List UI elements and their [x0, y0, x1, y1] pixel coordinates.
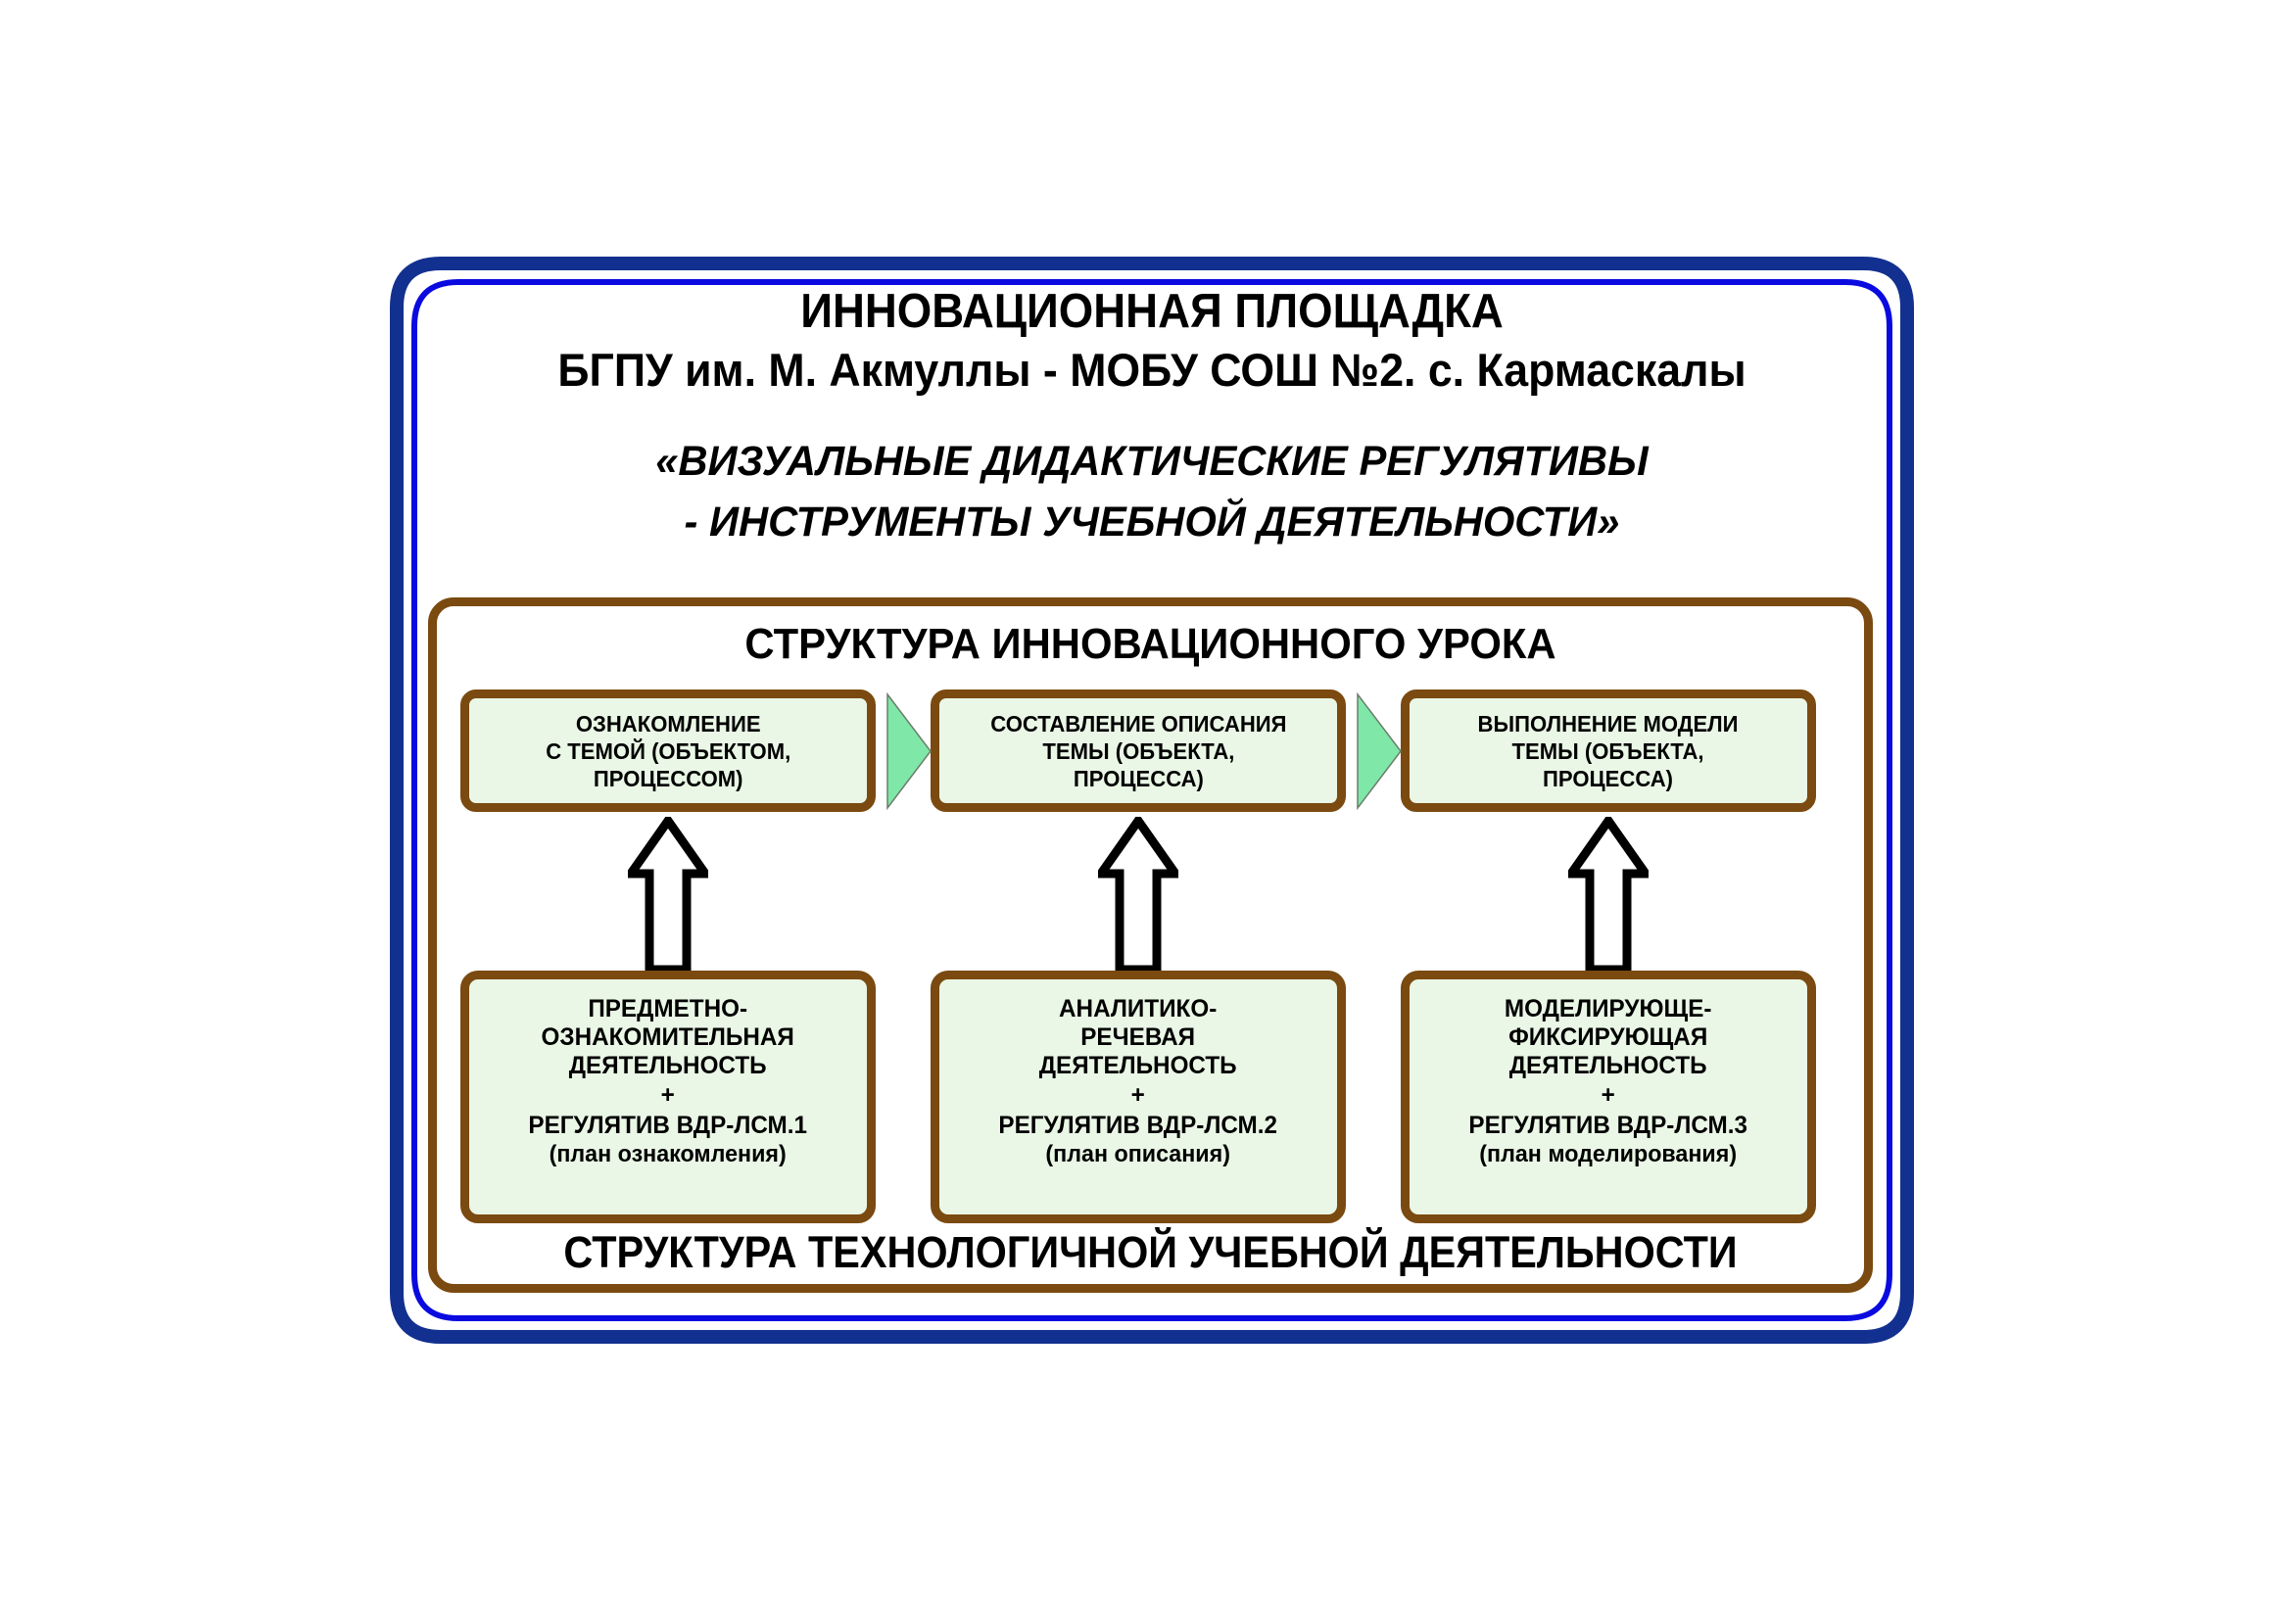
- header-subtitle-line-1: «ВИЗУАЛЬНЫЕ ДИДАКТИЧЕСКИЕ РЕГУЛЯТИВЫ: [451, 431, 1853, 492]
- panel-title: СТРУКТУРА ИННОВАЦИОННОГО УРОКА: [472, 620, 1828, 669]
- poster-frame: ИННОВАЦИОННАЯ ПЛОЩАДКА БГПУ им. М. Акмул…: [390, 257, 1914, 1344]
- stage-box-model-execution[interactable]: ВЫПОЛНЕНИЕ МОДЕЛИ ТЕМЫ (ОБЪЕКТА, ПРОЦЕСС…: [1401, 689, 1816, 812]
- green-chevron-arrow-icon: [1354, 692, 1403, 810]
- activity-plus-sign: +: [1469, 1080, 1748, 1111]
- poster-header: ИННОВАЦИОННАЯ ПЛОЩАДКА БГПУ им. М. Акмул…: [429, 284, 1875, 552]
- panel-footer: СТРУКТУРА ТЕХНОЛОГИЧНОЙ УЧЕБНОЙ ДЕЯТЕЛЬН…: [494, 1227, 1806, 1278]
- stage-box-description[interactable]: СОСТАВЛЕНИЕ ОПИСАНИЯ ТЕМЫ (ОБЪЕКТА, ПРОЦ…: [931, 689, 1346, 812]
- activity-title: ПРЕДМЕТНО- ОЗНАКОМИТЕЛЬНАЯ ДЕЯТЕЛЬНОСТЬ: [529, 995, 808, 1080]
- innovative-lesson-panel: СТРУКТУРА ИННОВАЦИОННОГО УРОКА ОЗНАКОМЛЕ…: [428, 597, 1873, 1293]
- up-arrow-icon: [1098, 817, 1178, 974]
- up-arrow-icon: [628, 817, 708, 974]
- green-chevron-arrow-icon: [884, 692, 933, 810]
- stage-box-label: ВЫПОЛНЕНИЕ МОДЕЛИ ТЕМЫ (ОБЪЕКТА, ПРОЦЕСС…: [1478, 710, 1739, 792]
- activity-plan: (план моделирования): [1469, 1140, 1748, 1169]
- activity-regulative: РЕГУЛЯТИВ ВДР-ЛСМ.2: [999, 1111, 1278, 1140]
- stage-box-label: СОСТАВЛЕНИЕ ОПИСАНИЯ ТЕМЫ (ОБЪЕКТА, ПРОЦ…: [990, 710, 1286, 792]
- activity-title: МОДЕЛИРУЮЩЕ- ФИКСИРУЮЩАЯ ДЕЯТЕЛЬНОСТЬ: [1469, 995, 1748, 1080]
- up-arrow-icon: [1568, 817, 1649, 974]
- activity-box-analytic-speech[interactable]: АНАЛИТИКО- РЕЧЕВАЯ ДЕЯТЕЛЬНОСТЬ + РЕГУЛЯ…: [931, 971, 1346, 1223]
- activity-box-subject-familiarization[interactable]: ПРЕДМЕТНО- ОЗНАКОМИТЕЛЬНАЯ ДЕЯТЕЛЬНОСТЬ …: [460, 971, 876, 1223]
- stage-box-label: ОЗНАКОМЛЕНИЕ С ТЕМОЙ (ОБЪЕКТОМ, ПРОЦЕССО…: [546, 710, 790, 792]
- activity-regulative: РЕГУЛЯТИВ ВДР-ЛСМ.3: [1469, 1111, 1748, 1140]
- stage-box-familiarization[interactable]: ОЗНАКОМЛЕНИЕ С ТЕМОЙ (ОБЪЕКТОМ, ПРОЦЕССО…: [460, 689, 876, 812]
- activity-text-group: АНАЛИТИКО- РЕЧЕВАЯ ДЕЯТЕЛЬНОСТЬ + РЕГУЛЯ…: [999, 995, 1278, 1214]
- activity-regulative: РЕГУЛЯТИВ ВДР-ЛСМ.1: [529, 1111, 808, 1140]
- activity-text-group: МОДЕЛИРУЮЩЕ- ФИКСИРУЮЩАЯ ДЕЯТЕЛЬНОСТЬ + …: [1469, 995, 1748, 1214]
- activity-title: АНАЛИТИКО- РЕЧЕВАЯ ДЕЯТЕЛЬНОСТЬ: [999, 995, 1278, 1080]
- activity-box-modeling-fixing[interactable]: МОДЕЛИРУЮЩЕ- ФИКСИРУЮЩАЯ ДЕЯТЕЛЬНОСТЬ + …: [1401, 971, 1816, 1223]
- activity-plan: (план описания): [999, 1140, 1278, 1169]
- activity-plus-sign: +: [529, 1080, 808, 1111]
- poster-subtitle: «ВИЗУАЛЬНЫЕ ДИДАКТИЧЕСКИЕ РЕГУЛЯТИВЫ - И…: [429, 431, 1875, 552]
- activity-plus-sign: +: [999, 1080, 1278, 1111]
- header-title-line-2: БГПУ им. М. Акмуллы - МОБУ СОШ №2. с. Ка…: [465, 343, 1839, 398]
- header-subtitle-line-2: - ИНСТРУМЕНТЫ УЧЕБНОЙ ДЕЯТЕЛЬНОСТИ»: [451, 492, 1853, 552]
- header-title-line-1: ИННОВАЦИОННАЯ ПЛОЩАДКА: [480, 284, 1825, 339]
- activity-plan: (план ознакомления): [529, 1140, 808, 1169]
- activity-text-group: ПРЕДМЕТНО- ОЗНАКОМИТЕЛЬНАЯ ДЕЯТЕЛЬНОСТЬ …: [529, 995, 808, 1214]
